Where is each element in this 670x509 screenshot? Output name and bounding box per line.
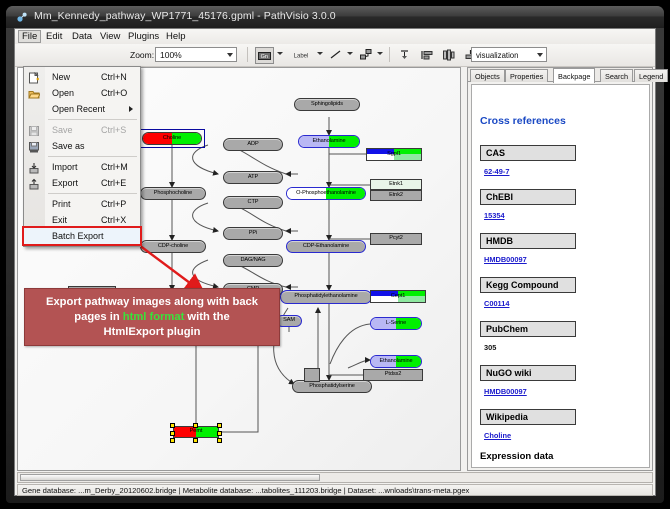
node-label: Ethanolamine — [312, 139, 345, 145]
xref-header-cas: CAS — [480, 145, 576, 161]
zoom-combobox[interactable]: 100% — [155, 47, 237, 62]
resize-handle-s[interactable] — [193, 438, 198, 443]
submenu-arrow-icon — [129, 106, 133, 112]
menu-item-label: Batch Export — [52, 231, 104, 241]
xref-header-hmdb: HMDB — [480, 233, 576, 249]
resize-handle-e[interactable] — [217, 431, 222, 436]
node-label: Phosphocholine — [154, 191, 192, 197]
node-cdp-choline[interactable]: CDP-choline — [140, 240, 206, 253]
screenshot-root: Mm_Kennedy_pathway_WP1771_45176.gpml - P… — [0, 0, 670, 509]
line-dropdown-icon[interactable] — [347, 52, 353, 55]
xref-header-nugo-wiki: NuGO wiki — [480, 365, 576, 381]
node-label: L-Serine — [386, 321, 406, 327]
shape-icon — [360, 49, 372, 60]
menu-item-import[interactable]: Import Ctrl+M — [24, 159, 140, 175]
scroll-thumb[interactable] — [20, 474, 320, 481]
tool-bar: Zoom: 100% Gn Label — [15, 44, 655, 67]
node-label: ATP — [248, 175, 258, 181]
menu-item-accel: Ctrl+X — [101, 215, 126, 225]
toolbar-separator-2 — [389, 47, 390, 62]
node-label: SAM — [283, 318, 295, 324]
callout-line-2: pages in html format with the — [74, 310, 229, 325]
node-o-phosphoethanolamine[interactable]: O-Phosphoethanolamine — [286, 187, 366, 200]
xref-value-nugo-wiki[interactable]: HMDB00097 — [484, 387, 527, 396]
callout-line-2a: pages in — [74, 311, 123, 323]
tab-backpage[interactable]: Backpage — [553, 68, 595, 83]
node-label: ADP — [247, 142, 258, 148]
xref-label: HMDB — [481, 236, 513, 246]
menu-item-label: Open Recent — [52, 104, 105, 114]
callout-highlight: html format — [123, 311, 185, 323]
node-dag-nag[interactable]: DAG/NAG — [223, 254, 283, 267]
node-ptdss2[interactable]: Ptdss2 — [363, 369, 423, 381]
menu-item-batch-export[interactable]: Batch Export — [24, 228, 140, 244]
node-ethanolamine-2[interactable]: Ethanolamine — [370, 355, 422, 368]
menu-bar: File Edit Data View Plugins Help — [15, 29, 655, 45]
client-area: File Edit Data View Plugins Help Zoom: 1… — [14, 28, 656, 496]
line-icon — [330, 49, 342, 60]
distribute-vertical-icon — [442, 49, 455, 61]
node-atp[interactable]: ATP — [223, 171, 283, 184]
chevron-down-icon-2 — [537, 53, 543, 57]
node-phosphatidylethanolamine[interactable]: Phosphatidylethanolamine — [280, 290, 372, 304]
align-top-icon — [398, 49, 411, 61]
node-label: Sphingolipids — [311, 102, 343, 108]
xref-value-pubchem: 305 — [484, 343, 496, 352]
menu-item-save: Save Ctrl+S — [24, 122, 140, 138]
menu-item-save-as[interactable]: Save as — [24, 138, 140, 154]
align-left-icon — [420, 49, 433, 61]
node-ethanolamine[interactable]: Ethanolamine — [298, 135, 360, 148]
toolbar-separator — [247, 47, 248, 62]
node-ctp[interactable]: CTP — [223, 196, 283, 209]
tab-search[interactable]: Search — [600, 69, 633, 82]
xref-value-cas[interactable]: 62-49-7 — [484, 167, 509, 176]
shape-dropdown-icon[interactable] — [377, 52, 383, 55]
node-label: Cept1 — [391, 294, 405, 300]
xref-header-pubchem: PubChem — [480, 321, 576, 337]
node-label: CDP-choline — [158, 244, 188, 250]
resize-handle-w[interactable] — [170, 431, 175, 436]
menu-item-open-recent[interactable]: Open Recent — [24, 101, 140, 117]
node-label: Etnk1 — [389, 182, 403, 188]
xref-header-chebi: ChEBI — [480, 189, 576, 205]
xref-value-hmdb[interactable]: HMDB00097 — [484, 255, 527, 264]
line-tool-button[interactable] — [329, 47, 343, 62]
node-sgpl1[interactable]: Sgpl1 — [366, 148, 422, 161]
menu-item-label: New — [52, 72, 70, 82]
resize-handle-se[interactable] — [217, 438, 222, 443]
title-bar[interactable]: Mm_Kennedy_pathway_WP1771_45176.gpml - P… — [6, 6, 664, 28]
save-disk-icon — [28, 124, 40, 136]
xref-label: Kegg Compound — [481, 280, 559, 290]
application-window: Mm_Kennedy_pathway_WP1771_45176.gpml - P… — [6, 6, 664, 503]
menu-separator-2 — [48, 156, 137, 157]
chevron-down-icon — [227, 53, 233, 57]
node-cdp-ethanolamine[interactable]: CDP-Ethanolamine — [286, 240, 366, 253]
visualization-value: visualization — [476, 51, 518, 60]
resize-handle-sw[interactable] — [170, 438, 175, 443]
tab-objects[interactable]: Objects — [470, 69, 505, 82]
annotation-callout: Export pathway images along with back pa… — [24, 288, 280, 346]
node-label: Ethanolamine — [379, 359, 412, 365]
resize-handle-nw[interactable] — [170, 423, 175, 428]
callout-line-3: HtmlExport plugin — [104, 325, 201, 340]
zoom-label: Zoom: — [130, 50, 154, 60]
xref-value-wikipedia[interactable]: Choline — [484, 431, 511, 440]
xref-value-kegg-compound[interactable]: C00114 — [484, 299, 509, 308]
import-icon — [28, 161, 40, 173]
menu-item-label: Save as — [52, 141, 85, 151]
menu-file[interactable]: File — [18, 30, 41, 43]
xref-label: PubChem — [481, 324, 528, 334]
tab-legend[interactable]: Legend — [634, 69, 668, 82]
menu-item-accel: Ctrl+S — [101, 125, 126, 135]
folder-open-icon — [28, 87, 40, 99]
xref-value-chebi[interactable]: 15354 — [484, 211, 505, 220]
menu-plugins[interactable]: Plugins — [124, 30, 163, 43]
export-icon — [28, 177, 40, 189]
align-left-tool-button[interactable] — [419, 47, 434, 62]
node-anchor-shape[interactable] — [304, 368, 320, 382]
backpage-scroll-area[interactable]: Cross references CAS 62-49-7 ChEBI 15354… — [471, 84, 650, 468]
distribute-vertical-tool-button[interactable] — [441, 47, 456, 62]
menu-separator-3 — [48, 193, 137, 194]
node-label: Phosphatidylethanolamine — [294, 294, 357, 300]
menu-item-label: Import — [52, 162, 78, 172]
node-pcyt2[interactable]: Pcyt2 — [370, 233, 422, 245]
xref-label: ChEBI — [481, 192, 513, 202]
xref-header-wikipedia: Wikipedia — [480, 409, 576, 425]
svg-text:Gn: Gn — [261, 54, 268, 60]
menu-item-open[interactable]: Open Ctrl+O — [24, 85, 140, 101]
menu-item-print[interactable]: Print Ctrl+P — [24, 196, 140, 212]
label-dropdown-icon[interactable] — [317, 52, 323, 55]
menu-item-accel: Ctrl+O — [101, 88, 127, 98]
node-ppi[interactable]: PPi — [223, 227, 283, 240]
node-label: CTP — [248, 200, 259, 206]
node-adp[interactable]: ADP — [223, 138, 283, 151]
node-label: Choline — [163, 136, 181, 142]
menu-item-accel: Ctrl+M — [101, 162, 128, 172]
callout-line-2b: with the — [184, 311, 229, 323]
window-title: Mm_Kennedy_pathway_WP1771_45176.gpml - P… — [34, 10, 336, 22]
node-label: O-Phosphoethanolamine — [296, 191, 356, 197]
node-label: Etnk2 — [389, 193, 403, 199]
horizontal-scrollbar[interactable] — [17, 472, 653, 483]
menu-item-new[interactable]: New Ctrl+N — [24, 69, 140, 85]
menu-item-accel: Ctrl+E — [101, 178, 126, 188]
side-panel: Objects Properties Backpage Search Legen… — [467, 67, 653, 471]
tab-properties[interactable]: Properties — [505, 69, 548, 82]
visualization-combobox[interactable]: visualization — [471, 47, 547, 62]
status-text: Gene database: ...m_Derby_20120602.bridg… — [18, 486, 469, 495]
menu-item-label: Open — [52, 88, 74, 98]
node-label: Sgpl1 — [387, 152, 401, 158]
save-as-icon — [28, 140, 40, 152]
menu-item-accel: Ctrl+P — [101, 199, 126, 209]
node-label: Ptdss2 — [385, 372, 402, 378]
node-label: DAG/NAG — [240, 258, 265, 264]
gene-product-tool-button[interactable]: Gn — [255, 47, 274, 64]
resize-handle-n[interactable] — [193, 423, 198, 428]
node-l-serine[interactable]: L-Serine — [370, 317, 422, 330]
menu-help[interactable]: Help — [162, 30, 190, 43]
node-phosphocholine[interactable]: Phosphocholine — [140, 187, 206, 200]
file-menu-popup[interactable]: New Ctrl+N Open Ctrl+O Open Recent — [23, 66, 141, 247]
resize-handle-ne[interactable] — [217, 423, 222, 428]
xref-label: Wikipedia — [481, 412, 528, 422]
new-document-icon — [28, 71, 40, 83]
zoom-value: 100% — [160, 50, 182, 60]
menu-item-label: Save — [52, 125, 73, 135]
gene-product-dropdown-icon[interactable] — [277, 52, 283, 55]
node-cept1[interactable]: Cept1 — [370, 290, 426, 303]
node-etnk2[interactable]: Etnk2 — [370, 190, 422, 201]
svg-text:Label: Label — [294, 53, 309, 59]
tab-strip: Objects Properties Backpage Search Legen… — [468, 68, 652, 82]
align-top-tool-button[interactable] — [397, 47, 412, 62]
menu-separator-1 — [48, 119, 137, 120]
gene-product-icon: Gn — [258, 51, 271, 61]
node-choline[interactable]: Choline — [142, 132, 202, 145]
node-label: CDP-Ethanolamine — [303, 244, 349, 250]
node-label: PPi — [249, 231, 257, 237]
xref-header-kegg-compound: Kegg Compound — [480, 277, 576, 293]
menu-item-export[interactable]: Export Ctrl+E — [24, 175, 140, 191]
shape-tool-button[interactable] — [359, 47, 373, 62]
expression-data-heading: Expression data — [480, 451, 553, 462]
node-etnk1[interactable]: Etnk1 — [370, 179, 422, 190]
menu-item-accel: Ctrl+N — [101, 72, 127, 82]
node-label: Pcyt2 — [389, 236, 403, 242]
menu-item-label: Exit — [52, 215, 67, 225]
backpage-heading: Cross references — [480, 115, 566, 127]
menu-item-label: Print — [52, 199, 71, 209]
node-sphingolipids[interactable]: Sphingolipids — [294, 98, 360, 111]
pathvisio-app-icon — [16, 11, 28, 23]
menu-view[interactable]: View — [96, 30, 124, 43]
menu-edit[interactable]: Edit — [42, 30, 66, 43]
callout-line-1: Export pathway images along with back — [46, 295, 258, 310]
node-label: Phosphatidylserine — [309, 384, 354, 390]
menu-item-exit[interactable]: Exit Ctrl+X — [24, 212, 140, 228]
menu-item-label: Export — [52, 178, 78, 188]
xref-label: CAS — [481, 148, 505, 158]
status-bar: Gene database: ...m_Derby_20120602.bridg… — [17, 484, 653, 496]
xref-label: NuGO wiki — [481, 368, 532, 378]
node-label: Pemt — [190, 429, 203, 435]
label-icon: Label — [290, 50, 312, 60]
menu-data[interactable]: Data — [68, 30, 96, 43]
label-tool-button[interactable]: Label — [289, 47, 313, 62]
